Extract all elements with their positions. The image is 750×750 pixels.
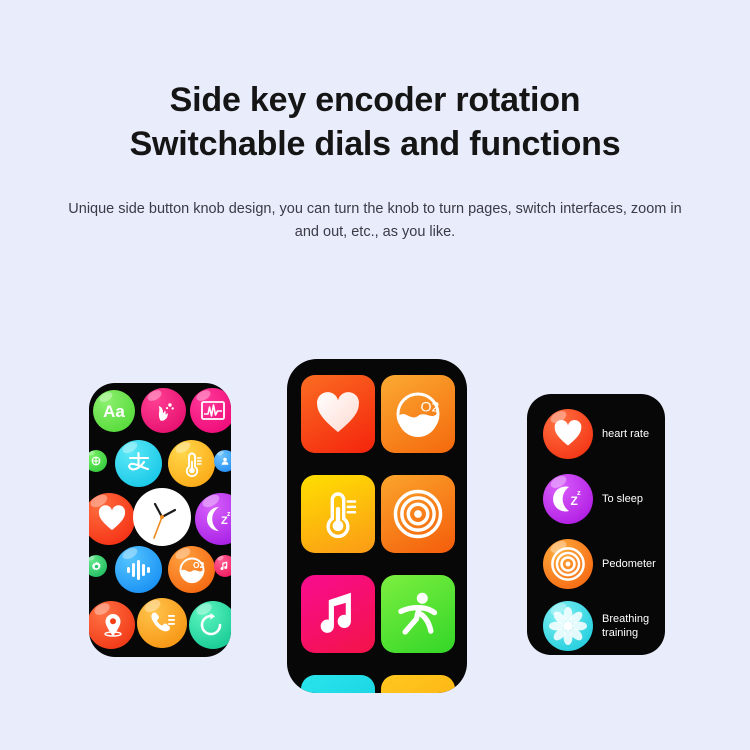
tile-partial-orange[interactable] (381, 675, 455, 693)
svg-text:z: z (577, 488, 581, 497)
app-icon-beauty[interactable] (141, 388, 186, 433)
menu-item-heart-rate[interactable]: heart rate (543, 409, 649, 459)
app-grid-watch: Aa (89, 383, 231, 657)
alipay-icon (124, 449, 154, 479)
menu-list-watch: heart rate Z z To sleep Pedometer (527, 394, 665, 655)
app-icon-music-small[interactable] (214, 555, 231, 577)
app-icon-restart[interactable] (189, 601, 231, 649)
app-icon-blood-oxygen[interactable]: O2 (168, 546, 215, 593)
refresh-icon (197, 611, 225, 639)
tile-music[interactable] (301, 575, 375, 653)
svg-text:O2: O2 (421, 400, 440, 416)
tile-blood-oxygen[interactable]: O2 (381, 375, 455, 453)
heart-icon (97, 505, 127, 533)
app-icon-leaf-small[interactable] (89, 450, 107, 472)
svg-text:O2: O2 (193, 560, 205, 570)
tile-partial-cyan[interactable] (301, 675, 375, 693)
phone-icon (147, 609, 177, 637)
page-subtitle: Unique side button knob design, you can … (60, 198, 690, 244)
menu-label-to-sleep: To sleep (602, 492, 643, 506)
to-sleep-icon-wrap: Z z (543, 474, 593, 524)
target-icon (550, 546, 586, 582)
leaf-icon (90, 455, 102, 467)
runner-icon (395, 590, 441, 638)
menu-label-heart-rate: heart rate (602, 427, 649, 441)
page-header: Side key encoder rotation Switchable dia… (0, 78, 750, 244)
person-icon (219, 455, 231, 467)
menu-label-breathing: Breathing training (602, 612, 649, 640)
app-icon-ecg[interactable] (190, 388, 231, 433)
pedometer-icon-wrap (543, 539, 593, 589)
note-icon (317, 590, 359, 638)
app-icon-voice[interactable] (115, 546, 162, 593)
menu-item-pedometer[interactable]: Pedometer (543, 539, 656, 589)
app-icon-watch-face[interactable] (133, 488, 191, 546)
gear-icon (90, 560, 103, 573)
app-icon-alipay[interactable] (115, 440, 162, 487)
temp-icon (317, 489, 359, 539)
app-icon-contact-small[interactable] (214, 450, 231, 472)
tile-heart-rate[interactable] (301, 375, 375, 453)
breathing-icon-wrap (543, 601, 593, 651)
moon-icon: Z z (552, 484, 584, 514)
voice-icon (125, 558, 153, 582)
page-title-line-1: Side key encoder rotation (0, 78, 750, 122)
menu-item-to-sleep[interactable]: Z z To sleep (543, 474, 643, 524)
tile-thermometer[interactable] (301, 475, 375, 553)
beauty-icon (151, 398, 177, 424)
menu-item-breathing[interactable]: Breathing training (543, 601, 649, 651)
clock-hands-icon (133, 488, 191, 546)
app-icon-call[interactable] (137, 598, 187, 648)
target-icon (392, 488, 444, 540)
font-size-label: Aa (103, 403, 125, 420)
app-icon-font-size[interactable]: Aa (93, 390, 135, 432)
heart-icon (553, 420, 583, 448)
app-icon-thermometer[interactable] (168, 440, 215, 487)
menu-label-pedometer: Pedometer (602, 557, 656, 571)
location-icon (99, 611, 127, 639)
heart-icon (314, 392, 362, 436)
o2-icon: O2 (393, 389, 443, 439)
o2-icon: O2 (177, 555, 207, 585)
tile-pedometer[interactable] (381, 475, 455, 553)
tile-grid-watch: O2 (287, 359, 467, 693)
app-icon-settings-small[interactable] (89, 555, 107, 577)
flower-icon (549, 607, 587, 645)
note-icon (219, 560, 231, 572)
svg-text:z: z (227, 511, 231, 518)
page-title-line-2: Switchable dials and functions (0, 122, 750, 166)
ecg-icon (200, 399, 226, 423)
moon-icon: Z z (201, 504, 231, 534)
temp-icon (179, 450, 205, 478)
tile-exercise[interactable] (381, 575, 455, 653)
app-icon-location[interactable] (89, 601, 135, 649)
heart-rate-icon-wrap (543, 409, 593, 459)
app-icon-heart-rate[interactable] (89, 493, 135, 545)
app-icon-sleep[interactable]: Z z (195, 493, 231, 545)
